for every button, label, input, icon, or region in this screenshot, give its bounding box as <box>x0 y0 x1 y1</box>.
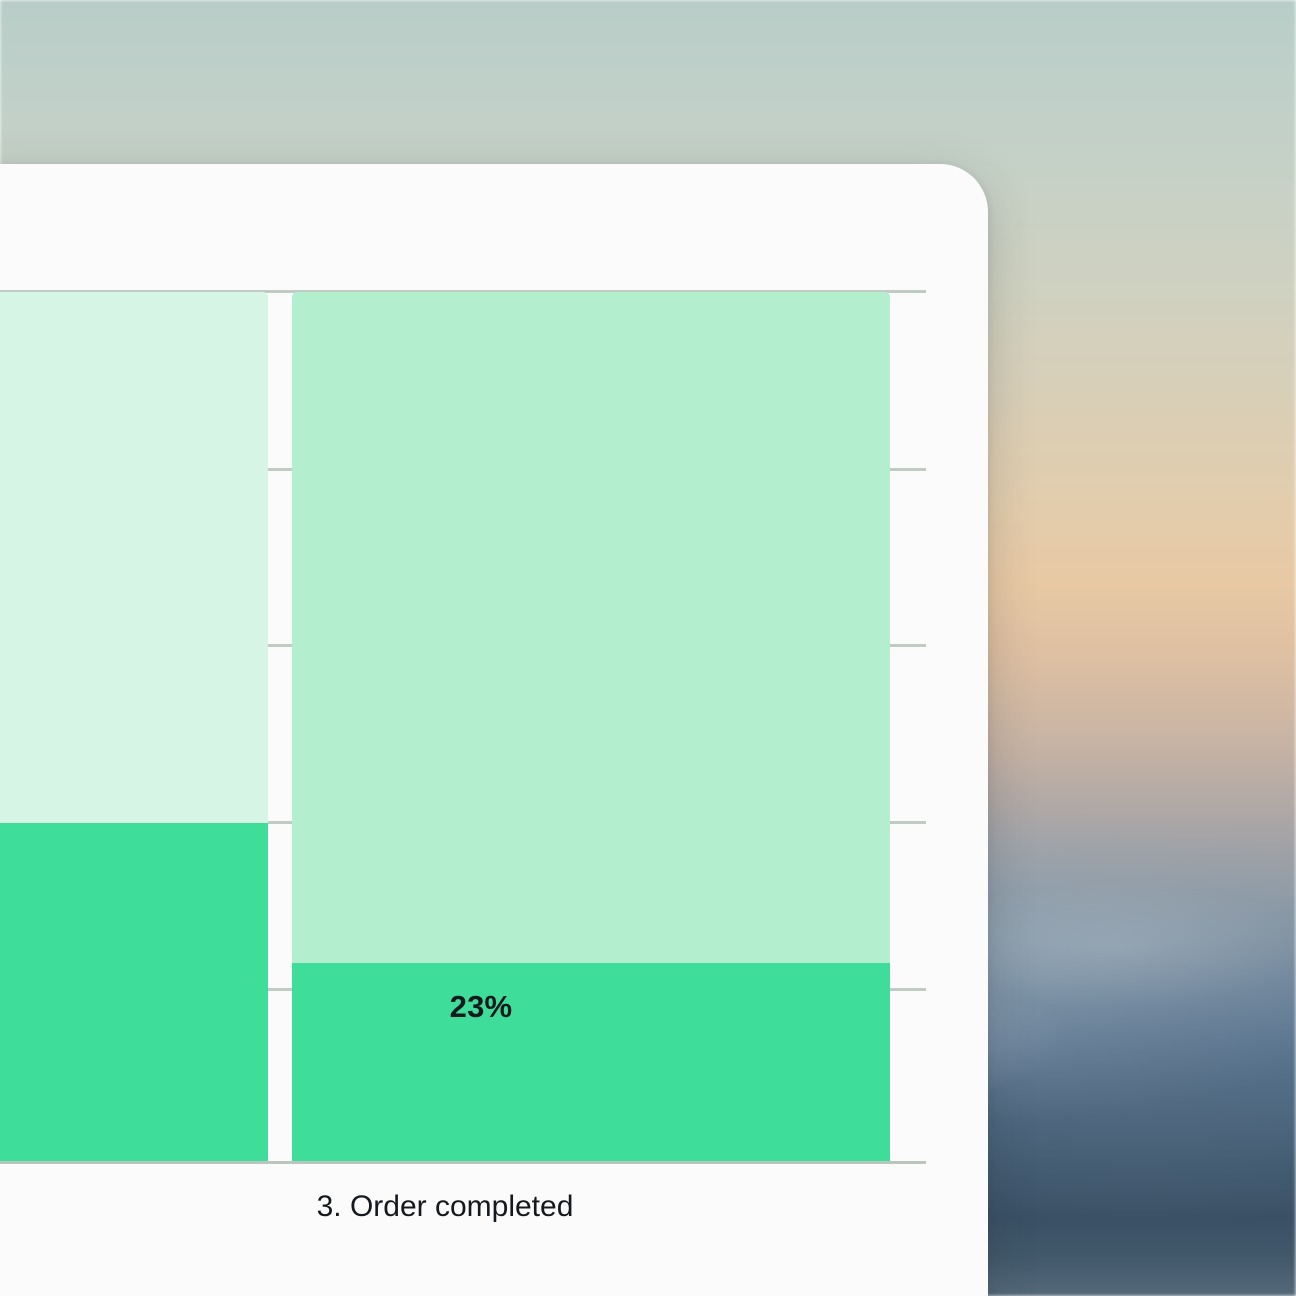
bar-order-completed[interactable]: 23% <box>292 292 890 1163</box>
axis-baseline <box>0 1161 926 1164</box>
plot-area: 23% <box>0 292 926 1163</box>
screen: 23% 3. Order completed <box>0 0 1296 1296</box>
chart-window: 23% 3. Order completed <box>0 164 988 1296</box>
bar-value-label: 23% <box>182 989 780 1025</box>
bar-segment-remaining <box>0 292 268 823</box>
bar-segment-remaining <box>292 292 890 963</box>
category-label-order-completed: 3. Order completed <box>146 1190 744 1224</box>
bar-payment-started[interactable] <box>0 292 268 1163</box>
chart-canvas: 23% 3. Order completed <box>0 164 988 1296</box>
